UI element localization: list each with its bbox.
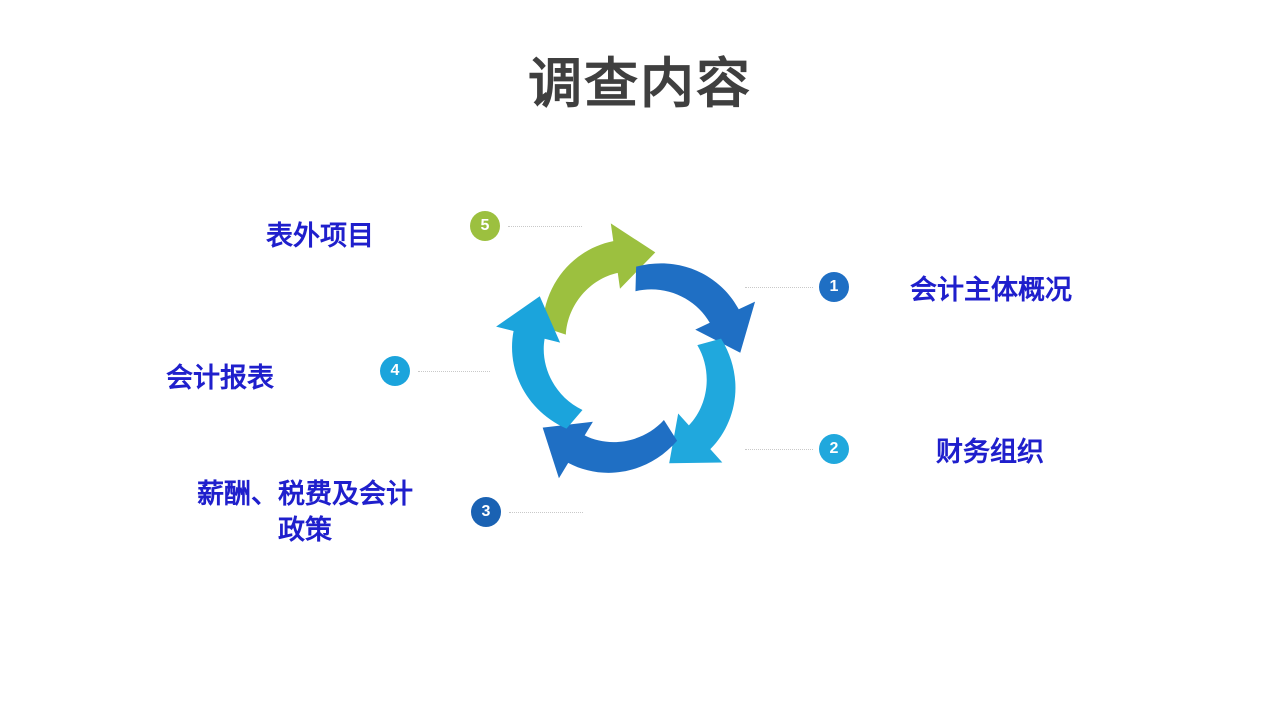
connector-2: [745, 449, 813, 450]
cycle-arrow-2: [623, 330, 783, 489]
item-label-4[interactable]: 会计报表: [90, 360, 350, 396]
cycle-diagram: [470, 200, 790, 520]
badge-5[interactable]: 5: [470, 211, 500, 241]
connector-5: [508, 226, 582, 227]
badge-1[interactable]: 1: [819, 272, 849, 302]
item-label-3[interactable]: 薪酬、税费及会计 政策: [160, 476, 450, 549]
connector-4: [418, 371, 490, 372]
page-title: 调查内容: [0, 52, 1280, 117]
badge-4[interactable]: 4: [380, 356, 410, 386]
slide-root: 调查内容 5 4 3 1 2 表外项目: [0, 0, 1280, 720]
item-label-2[interactable]: 财务组织: [936, 434, 1256, 470]
badge-2-number: 2: [830, 441, 839, 457]
connector-3: [509, 512, 583, 513]
badge-1-number: 1: [830, 279, 839, 295]
item-label-1[interactable]: 会计主体概况: [910, 272, 1230, 308]
item-label-5[interactable]: 表外项目: [190, 218, 450, 254]
badge-3-number: 3: [482, 504, 491, 520]
connector-1: [745, 287, 813, 288]
badge-4-number: 4: [391, 363, 400, 379]
badge-2[interactable]: 2: [819, 434, 849, 464]
badge-5-number: 5: [481, 218, 490, 234]
badge-3[interactable]: 3: [471, 497, 501, 527]
cycle-arrow-4: [476, 288, 606, 432]
